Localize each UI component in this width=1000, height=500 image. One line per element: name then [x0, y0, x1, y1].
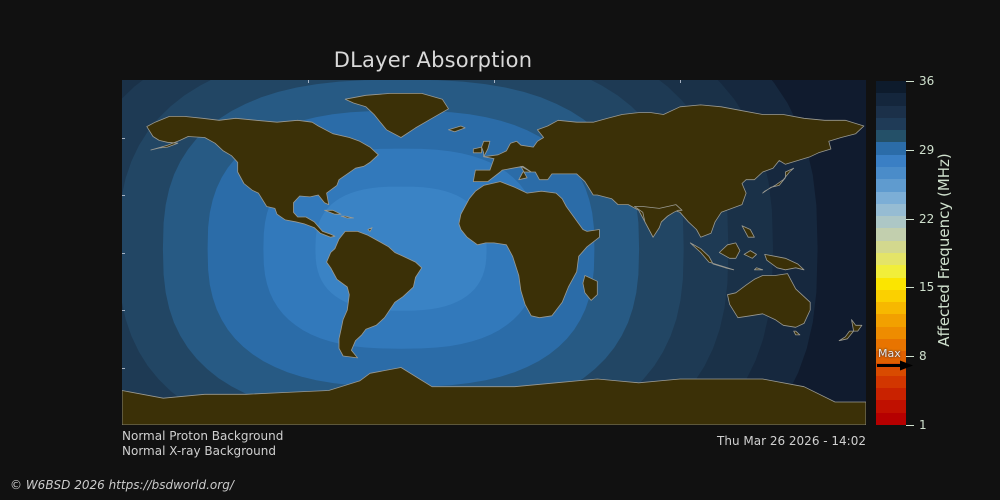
colorbar-tick	[906, 219, 914, 220]
colorbar-segment	[876, 130, 906, 142]
colorbar-tick	[906, 287, 914, 288]
colorbar-axis-label-text: Affected Frequency (MHz)	[935, 153, 953, 347]
graticule-longitude-line	[308, 80, 309, 425]
colorbar-segment	[876, 376, 906, 388]
graticule-longitude-line	[494, 80, 495, 425]
colorbar-segment	[876, 278, 906, 290]
colorbar-segment	[876, 118, 906, 130]
colorbar-tick	[906, 150, 914, 151]
colorbar-segment	[876, 241, 906, 253]
max-marker: Max	[876, 348, 916, 372]
timestamp: Thu Mar 26 2026 - 14:02	[717, 434, 866, 448]
colorbar-segment	[876, 106, 906, 118]
status-proton: Normal Proton Background	[122, 429, 283, 444]
colorbar-segment	[876, 302, 906, 314]
colorbar-segment	[876, 400, 906, 412]
colorbar-segment	[876, 142, 906, 154]
colorbar-tick	[906, 81, 914, 82]
copyright-notice: © W6BSD 2026 https://bsdworld.org/	[10, 478, 234, 492]
status-block: Normal Proton Background Normal X-ray Ba…	[122, 429, 283, 459]
colorbar-segment	[876, 155, 906, 167]
colorbar-segment	[876, 388, 906, 400]
colorbar-segment	[876, 265, 906, 277]
max-marker-label: Max	[878, 348, 901, 359]
colorbar-gradient	[876, 81, 906, 425]
colorbar-segment	[876, 228, 906, 240]
colorbar-tick	[906, 425, 914, 426]
colorbar-segment	[876, 216, 906, 228]
colorbar-segment	[876, 179, 906, 191]
colorbar-tick-label: 8	[919, 350, 927, 362]
colorbar-tick-label: 1	[919, 419, 927, 431]
colorbar-segment	[876, 253, 906, 265]
colorbar-segment	[876, 290, 906, 302]
colorbar-segment	[876, 413, 906, 425]
arrow-right-icon	[876, 359, 916, 372]
status-xray: Normal X-ray Background	[122, 444, 283, 459]
colorbar-segment	[876, 93, 906, 105]
colorbar-segment	[876, 167, 906, 179]
graticule-longitude-line	[680, 80, 681, 425]
colorbar-segment	[876, 327, 906, 339]
colorbar-axis-label: Affected Frequency (MHz)	[929, 0, 959, 500]
world-map[interactable]	[122, 80, 866, 425]
page-title: DLayer Absorption	[0, 48, 866, 72]
colorbar-segment	[876, 204, 906, 216]
colorbar-segment	[876, 81, 906, 93]
colorbar-segment	[876, 314, 906, 326]
colorbar-segment	[876, 192, 906, 204]
dlayer-absorption-page: DLayer Absorption 3629221581 Affected Fr…	[0, 0, 1000, 500]
